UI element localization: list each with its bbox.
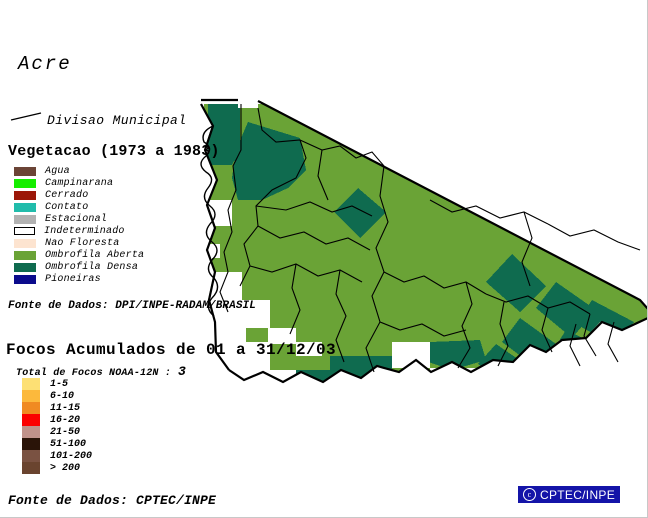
legend-item: 6-10 (22, 390, 92, 402)
legend-item: 1-5 (22, 378, 92, 390)
focos-swatch-16-20 (22, 414, 40, 426)
focos-total-line: Total de Focos NOAA-12N :3 (16, 364, 186, 379)
focos-source-text: Fonte de Dados: CPTEC/INPE (8, 493, 216, 508)
legend-label: 101-200 (50, 451, 92, 462)
legend-label: 1-5 (50, 379, 68, 390)
legend-item: Ombrofila Aberta (14, 249, 144, 261)
legend-item: 11-15 (22, 402, 92, 414)
focos-swatch-51-100 (22, 438, 40, 450)
legend-item: 101-200 (22, 450, 92, 462)
legend-item: Pioneiras (14, 273, 144, 285)
map-page: Acre Divisao Municipal Vegetacao (1973 a… (0, 0, 648, 518)
legend-label: 21-50 (50, 427, 80, 438)
focos-swatch-11-15 (22, 402, 40, 414)
vegetation-legend: Agua Campinarana Cerrado Contato Estacio… (14, 165, 144, 285)
legend-label: 16-20 (50, 415, 80, 426)
focos-swatch-over-200 (22, 462, 40, 474)
cptec-inpe-badge-label: CPTEC/INPE (540, 488, 615, 502)
legend-label: > 200 (50, 463, 80, 474)
legend-swatch-indeterminado (14, 227, 35, 235)
divisao-municipal-label: Divisao Municipal (47, 113, 186, 128)
legend-item: Campinarana (14, 177, 144, 189)
page-title: Acre (18, 53, 72, 75)
legend-item: Ombrofila Densa (14, 261, 144, 273)
legend-swatch-campinarana (14, 179, 36, 188)
focos-swatch-101-200 (22, 450, 40, 462)
legend-label: Agua (45, 166, 70, 177)
legend-label: Indeterminado (44, 226, 125, 237)
focos-legend: 1-5 6-10 11-15 16-20 21-50 51-100 101-20… (22, 378, 92, 474)
focos-total-value: 3 (171, 364, 186, 379)
legend-label: 51-100 (50, 439, 86, 450)
legend-swatch-estacional (14, 215, 36, 224)
legend-label: Ombrofila Densa (45, 262, 138, 273)
focos-swatch-1-5 (22, 378, 40, 390)
legend-swatch-ombrofila-aberta (14, 251, 36, 260)
legend-swatch-contato (14, 203, 36, 212)
legend-item: Estacional (14, 213, 144, 225)
legend-item: Agua (14, 165, 144, 177)
legend-label: Nao Floresta (45, 238, 119, 249)
vegetation-source-text: Fonte de Dados: DPI/INPE-RADAM/BRASIL (8, 300, 256, 312)
legend-label: Cerrado (45, 190, 88, 201)
focos-swatch-6-10 (22, 390, 40, 402)
legend-item: Nao Floresta (14, 237, 144, 249)
legend-item: 51-100 (22, 438, 92, 450)
legend-label: 6-10 (50, 391, 74, 402)
legend-label: Pioneiras (45, 274, 101, 285)
copyright-icon: c (523, 488, 536, 501)
legend-swatch-agua (14, 167, 36, 176)
legend-swatch-cerrado (14, 191, 36, 200)
legend-label: Campinarana (45, 178, 113, 189)
legend-label: Ombrofila Aberta (45, 250, 144, 261)
legend-swatch-ombrofila-densa (14, 263, 36, 272)
legend-item: > 200 (22, 462, 92, 474)
vegetation-legend-title: Vegetacao (1973 a 1983) (8, 143, 220, 160)
divisao-municipal-line-swatch (10, 112, 42, 122)
legend-label: 11-15 (50, 403, 80, 414)
legend-swatch-pioneiras (14, 275, 36, 284)
legend-item: Indeterminado (14, 225, 144, 237)
legend-label: Estacional (45, 214, 107, 225)
focos-legend-title: Focos Acumulados de 01 a 31/12/03 (6, 341, 336, 359)
legend-item: 16-20 (22, 414, 92, 426)
legend-item: Contato (14, 201, 144, 213)
legend-label: Contato (45, 202, 88, 213)
cptec-inpe-badge[interactable]: c CPTEC/INPE (518, 486, 620, 503)
legend-item: 21-50 (22, 426, 92, 438)
focos-swatch-21-50 (22, 426, 40, 438)
legend-swatch-nao-floresta (14, 239, 36, 248)
legend-item: Cerrado (14, 189, 144, 201)
